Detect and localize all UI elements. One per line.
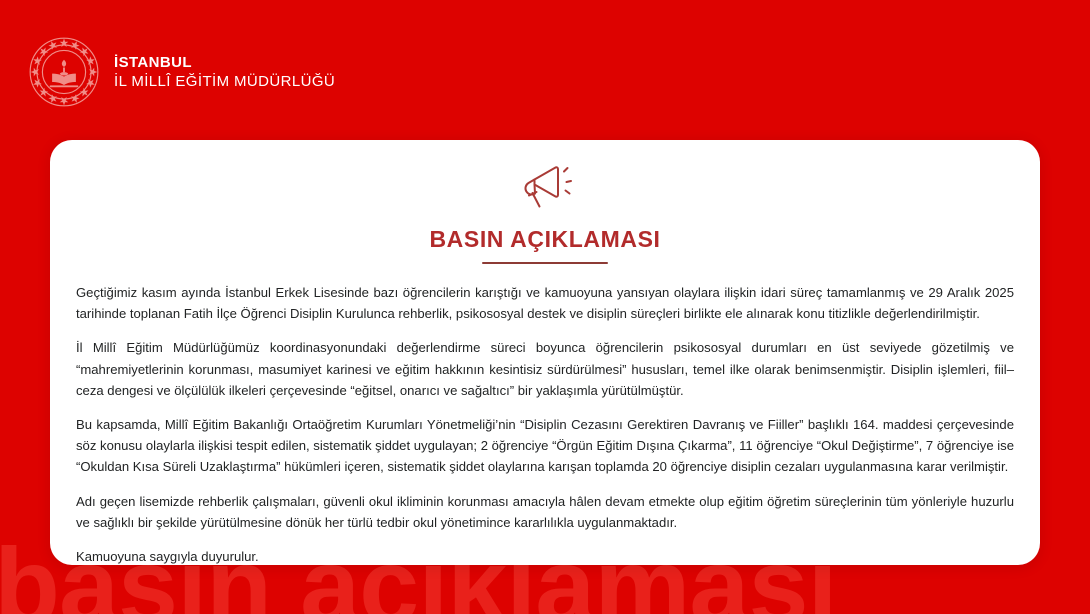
closing-statement: Kamuoyuna saygıyla duyurulur. [76, 546, 1014, 565]
card-header: BASIN AÇIKLAMASI [76, 162, 1014, 264]
press-release-card: BASIN AÇIKLAMASI Geçtiğimiz kasım ayında… [50, 140, 1040, 565]
org-title-block: İSTANBUL İL MİLLÎ EĞİTİM MÜDÜRLÜĞÜ [114, 54, 335, 91]
press-release-body: Geçtiğimiz kasım ayında İstanbul Erkek L… [76, 282, 1014, 565]
meb-seal-icon [28, 36, 100, 108]
paragraph: Bu kapsamda, Millî Eğitim Bakanlığı Orta… [76, 414, 1014, 478]
page-title: BASIN AÇIKLAMASI [429, 226, 660, 253]
org-name-city: İSTANBUL [114, 54, 335, 71]
title-divider [482, 262, 608, 264]
org-name-directorate: İL MİLLÎ EĞİTİM MÜDÜRLÜĞÜ [114, 73, 335, 90]
paragraph: Geçtiğimiz kasım ayında İstanbul Erkek L… [76, 282, 1014, 324]
site-header: İSTANBUL İL MİLLÎ EĞİTİM MÜDÜRLÜĞÜ [28, 36, 335, 108]
paragraph: Adı geçen lisemizde rehberlik çalışmalar… [76, 491, 1014, 533]
paragraph: İl Millî Eğitim Müdürlüğümüz koordinasyo… [76, 337, 1014, 401]
megaphone-icon [514, 162, 576, 214]
